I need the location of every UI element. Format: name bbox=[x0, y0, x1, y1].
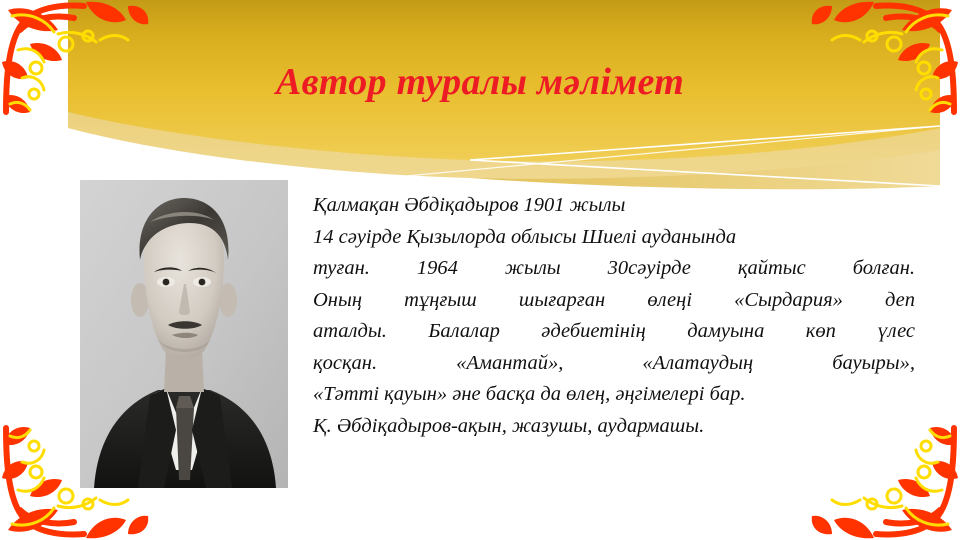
text-line: туған. 1964 жылы 30сәуірде қайтыс болған… bbox=[313, 253, 915, 285]
author-portrait bbox=[80, 180, 288, 488]
text-line: аталды. Балалар әдебиетінің дамуына көп … bbox=[313, 316, 915, 348]
banner-divider-line-1 bbox=[470, 126, 940, 160]
text-line: Қ. Әбдіқадыров-ақын, жазушы, аудармашы. bbox=[313, 411, 915, 443]
banner-right-wedge bbox=[470, 150, 940, 189]
text-line: Оның тұңғыш шығарған өлеңі «Сырдария» де… bbox=[313, 285, 915, 317]
text-line: Қалмақан Әбдіқадыров 1901 жылы bbox=[313, 190, 915, 222]
slide-root: Автор туралы мәлімет bbox=[0, 0, 960, 540]
text-line: қосқан. «Амантай», «Алатаудың бауыры», bbox=[313, 348, 915, 380]
text-line: 14 сәуірде Қызылорда облысы Шиелі ауданы… bbox=[313, 222, 915, 254]
banner-divider-line-2 bbox=[470, 160, 940, 186]
author-description: Қалмақан Әбдіқадыров 1901 жылы 14 сәуірд… bbox=[313, 190, 915, 442]
page-title: Автор туралы мәлімет bbox=[0, 58, 960, 106]
text-line: «Тәтті қауын» әне басқа да өлең, әңгімел… bbox=[313, 379, 915, 411]
portrait-image bbox=[80, 180, 288, 488]
banner-divider-line-3 bbox=[300, 126, 940, 186]
